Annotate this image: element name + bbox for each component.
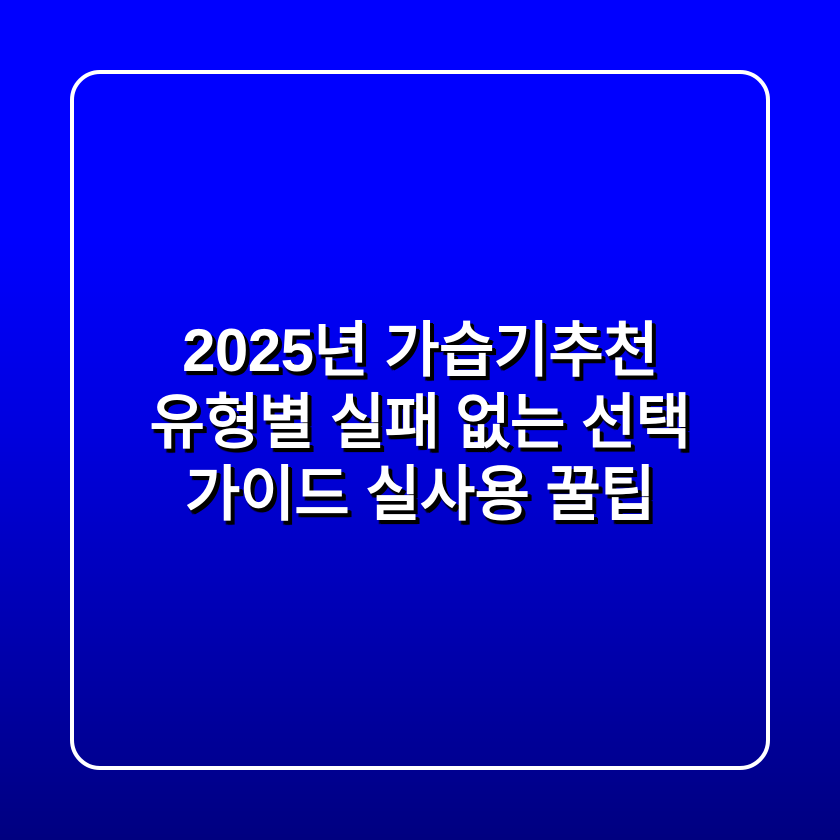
headline-line-2: 유형별 실패 없는 선택 (0, 387, 840, 459)
thumbnail-card: 2025년 가습기추천 유형별 실패 없는 선택 가이드 실사용 꿀팁 (0, 0, 840, 840)
headline-line-1: 2025년 가습기추천 (0, 315, 840, 387)
headline-block: 2025년 가습기추천 유형별 실패 없는 선택 가이드 실사용 꿀팁 (0, 0, 840, 840)
headline-line-3: 가이드 실사용 꿀팁 (0, 459, 840, 531)
